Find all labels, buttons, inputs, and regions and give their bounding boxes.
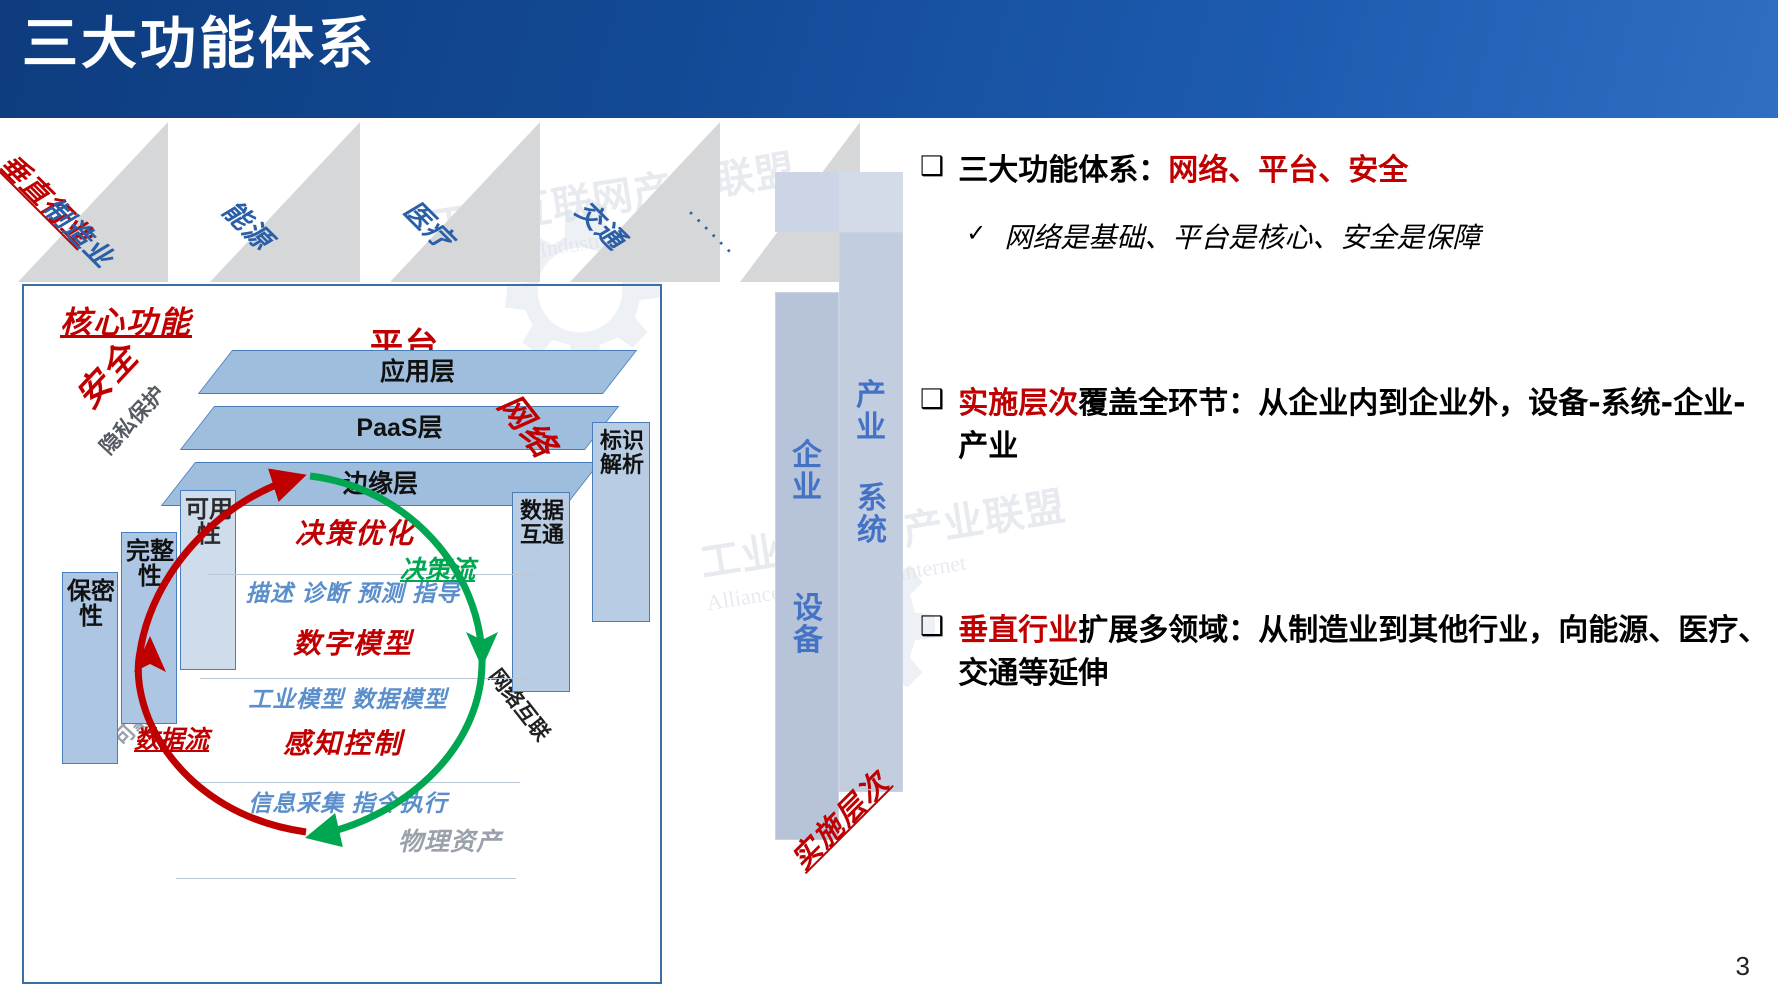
bullet-block-1: ❑ 三大功能体系：网络、平台、安全 ✓ 网络是基础、平台是核心、安全是保障 [920,150,1760,256]
implementation-panel-enterprise-shape [775,172,839,232]
implementation-panel-system: 系统 [839,232,903,792]
bullet-text-3-red: 垂直行业 [958,613,1078,648]
check-icon: ✓ [966,219,986,248]
implementation-panel-industry-shape [839,172,903,232]
bullet-marker-3: ❑ [920,610,944,644]
bullet-sub-text-1: 网络是基础、平台是核心、安全是保障 [1004,219,1480,257]
bullet-text-1: 三大功能体系：网络、平台、安全 [958,150,1760,193]
implementation-label-enterprise-overlay: 企业 [785,440,829,504]
bullet-text-1-red: 网络、平台、安全 [1168,153,1408,188]
bullet-sub-row-1: ✓ 网络是基础、平台是核心、安全是保障 [966,219,1760,257]
slide-root: 三大功能体系 工业互联网产业联盟 Alliance of Industrial … [0,0,1778,1000]
bullet-text-2-red: 实施层次 [958,386,1078,421]
bullet-marker-2: ❑ [920,383,944,417]
bullet-marker-1: ❑ [920,150,944,184]
bullet-text-3-plain: 扩展多领域：从制造业到其他行业，向能源、医疗、交通等延伸 [958,613,1768,691]
bullet-row-2: ❑ 实施层次覆盖全环节：从企业内到企业外，设备-系统-企业-产业 [920,383,1770,468]
bullet-row-3: ❑ 垂直行业扩展多领域：从制造业到其他行业，向能源、医疗、交通等延伸 [920,610,1770,695]
bullet-text-1-plain: 三大功能体系： [958,153,1168,188]
bullet-block-2: ❑ 实施层次覆盖全环节：从企业内到企业外，设备-系统-企业-产业 [920,383,1770,468]
page-number: 3 [1736,951,1750,982]
implementation-panel-device-label: 设备 [786,593,830,657]
implementation-label-industry-overlay: 产业 [849,380,893,444]
bullet-text-3: 垂直行业扩展多领域：从制造业到其他行业，向能源、医疗、交通等延伸 [958,610,1770,695]
bullet-text-2: 实施层次覆盖全环节：从企业内到企业外，设备-系统-企业-产业 [958,383,1770,468]
bullet-row-1: ❑ 三大功能体系：网络、平台、安全 ✓ 网络是基础、平台是核心、安全是保障 [920,150,1760,256]
implementation-panel-device: 设备 [775,292,839,840]
bullet-block-3: ❑ 垂直行业扩展多领域：从制造业到其他行业，向能源、医疗、交通等延伸 [920,610,1770,695]
implementation-panel-system-label: 系统 [850,483,894,547]
